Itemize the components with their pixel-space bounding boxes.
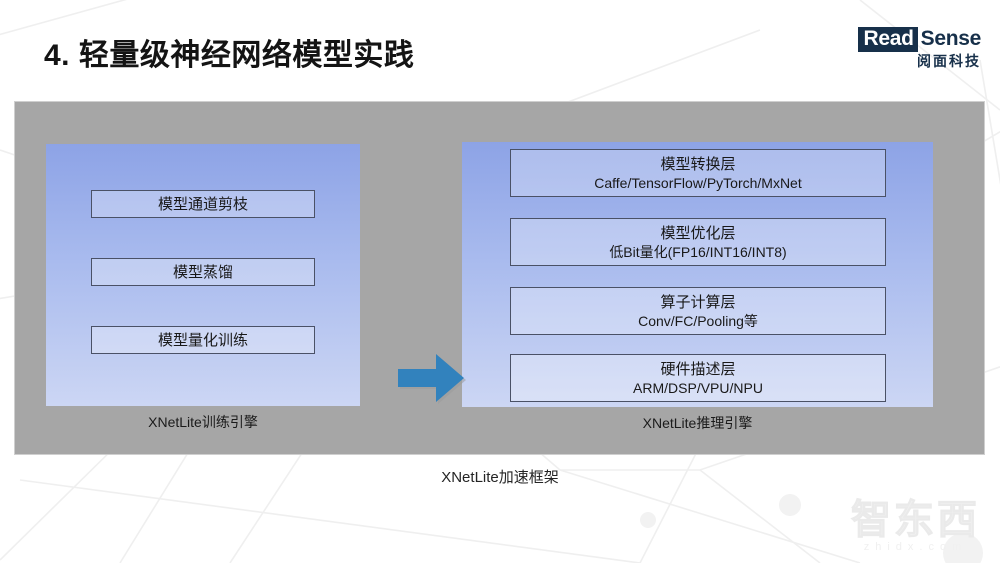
layer-subtitle: Caffe/TensorFlow/PyTorch/MxNet	[594, 174, 801, 192]
right-arrow-icon	[395, 349, 467, 407]
inference-box-model-conversion-layer: 模型转换层 Caffe/TensorFlow/PyTorch/MxNet	[510, 149, 886, 197]
training-box-channel-pruning: 模型通道剪枝	[91, 190, 315, 218]
training-box-distillation: 模型蒸馏	[91, 258, 315, 286]
layer-title: 模型量化训练	[158, 331, 248, 350]
layer-title: 模型优化层	[660, 224, 735, 243]
logo-wordmark: Read Sense	[858, 27, 982, 52]
inference-box-model-optimization-layer: 模型优化层 低Bit量化(FP16/INT16/INT8)	[510, 218, 886, 266]
training-box-quantization-training: 模型量化训练	[91, 326, 315, 354]
xnetlite-framework-panel: 模型通道剪枝 模型蒸馏 模型量化训练 XNetLite训练引擎 模型转换层 Ca…	[14, 101, 985, 455]
layer-title: 模型通道剪枝	[158, 195, 248, 214]
watermark-domain: zhidx.com	[851, 541, 980, 553]
framework-caption: XNetLite加速框架	[0, 466, 1000, 487]
layer-subtitle: ARM/DSP/VPU/NPU	[633, 379, 763, 397]
layer-title: 模型蒸馏	[173, 263, 233, 282]
readsense-logo: Read Sense 阅面科技	[858, 27, 982, 68]
page-title: 4. 轻量级神经网络模型实践	[44, 30, 414, 74]
logo-read-text: Read	[858, 27, 917, 52]
layer-title: 算子计算层	[660, 293, 735, 312]
training-engine-caption: XNetLite训练引擎	[46, 412, 360, 432]
watermark-chinese: 智东西	[851, 499, 980, 541]
zhidx-watermark: 智东西 zhidx.com	[851, 499, 980, 553]
layer-title: 硬件描述层	[660, 360, 735, 379]
layer-title: 模型转换层	[660, 155, 735, 174]
inference-engine-panel: 模型转换层 Caffe/TensorFlow/PyTorch/MxNet 模型优…	[462, 142, 933, 407]
layer-subtitle: 低Bit量化(FP16/INT16/INT8)	[609, 243, 786, 261]
inference-box-operator-compute-layer: 算子计算层 Conv/FC/Pooling等	[510, 287, 886, 335]
layer-subtitle: Conv/FC/Pooling等	[638, 312, 758, 330]
inference-engine-caption: XNetLite推理引擎	[462, 413, 933, 433]
logo-chinese-name: 阅面科技	[858, 54, 982, 68]
training-engine-panel: 模型通道剪枝 模型蒸馏 模型量化训练	[46, 144, 360, 406]
inference-box-hardware-description-layer: 硬件描述层 ARM/DSP/VPU/NPU	[510, 354, 886, 402]
logo-sense-text: Sense	[918, 27, 982, 52]
